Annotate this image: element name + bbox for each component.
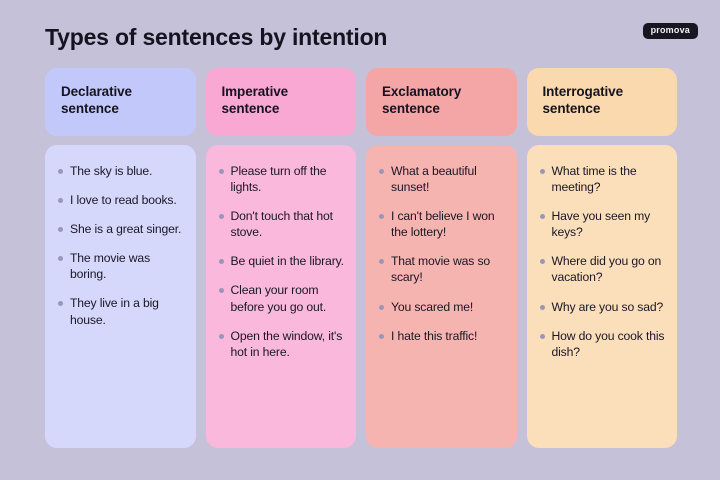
list-item-text: That movie was so scary!: [391, 253, 507, 285]
bullet-icon: [58, 301, 63, 306]
list-item-text: Have you seen my keys?: [552, 208, 668, 240]
bullet-icon: [219, 334, 224, 339]
list-item: Open the window, it's hot in here.: [219, 328, 347, 360]
bullet-icon: [540, 169, 545, 174]
page-title: Types of sentences by intention: [45, 24, 387, 51]
list-item-text: What time is the meeting?: [552, 163, 668, 195]
bullet-icon: [540, 305, 545, 310]
list-item: The sky is blue.: [58, 163, 186, 179]
bullet-icon: [379, 334, 384, 339]
list-item: How do you cook this dish?: [540, 328, 668, 360]
bullet-icon: [219, 288, 224, 293]
column-exclamatory: Exclamatory sentence What a beautiful su…: [366, 68, 517, 448]
list-item: They live in a big house.: [58, 295, 186, 327]
bullet-icon: [219, 214, 224, 219]
column-body-imperative: Please turn off the lights. Don't touch …: [206, 145, 357, 448]
list-item-text: Why are you so sad?: [552, 299, 664, 315]
column-header-declarative: Declarative sentence: [45, 68, 196, 136]
list-item-text: What a beautiful sunset!: [391, 163, 507, 195]
list-item-text: The sky is blue.: [70, 163, 152, 179]
list-item-text: How do you cook this dish?: [552, 328, 668, 360]
bullet-icon: [379, 305, 384, 310]
bullet-icon: [58, 198, 63, 203]
list-item-text: The movie was boring.: [70, 250, 186, 282]
list-item: What a beautiful sunset!: [379, 163, 507, 195]
list-item: Don't touch that hot stove.: [219, 208, 347, 240]
list-item: I can't believe I won the lottery!: [379, 208, 507, 240]
column-interrogative: Interrogative sentence What time is the …: [527, 68, 678, 448]
list-item-text: I hate this traffic!: [391, 328, 477, 344]
column-title: Exclamatory sentence: [382, 83, 503, 118]
list-item: What time is the meeting?: [540, 163, 668, 195]
list-item-text: I love to read books.: [70, 192, 177, 208]
bullet-icon: [540, 214, 545, 219]
list-item-text: Please turn off the lights.: [231, 163, 347, 195]
list-item: Clean your room before you go out.: [219, 282, 347, 314]
column-title: Imperative sentence: [222, 83, 343, 118]
bullet-icon: [540, 259, 545, 264]
bullet-icon: [58, 227, 63, 232]
list-item: Why are you so sad?: [540, 299, 668, 315]
list-item-text: Be quiet in the library.: [231, 253, 344, 269]
infographic-canvas: Types of sentences by intention promova …: [0, 0, 720, 480]
list-item: You scared me!: [379, 299, 507, 315]
list-item: That movie was so scary!: [379, 253, 507, 285]
bullet-icon: [58, 256, 63, 261]
bullet-icon: [379, 169, 384, 174]
promova-logo: promova: [643, 23, 698, 39]
list-item: Where did you go on vacation?: [540, 253, 668, 285]
bullet-icon: [540, 334, 545, 339]
list-item-text: Open the window, it's hot in here.: [231, 328, 347, 360]
list-item: Please turn off the lights.: [219, 163, 347, 195]
list-item-text: Clean your room before you go out.: [231, 282, 347, 314]
column-header-exclamatory: Exclamatory sentence: [366, 68, 517, 136]
column-header-interrogative: Interrogative sentence: [527, 68, 678, 136]
column-body-interrogative: What time is the meeting? Have you seen …: [527, 145, 678, 448]
list-item: The movie was boring.: [58, 250, 186, 282]
column-title: Interrogative sentence: [543, 83, 664, 118]
bullet-icon: [379, 214, 384, 219]
list-item: Have you seen my keys?: [540, 208, 668, 240]
bullet-icon: [219, 169, 224, 174]
list-item: Be quiet in the library.: [219, 253, 347, 269]
bullet-icon: [379, 259, 384, 264]
sentence-type-columns: Declarative sentence The sky is blue. I …: [45, 68, 677, 448]
column-body-declarative: The sky is blue. I love to read books. S…: [45, 145, 196, 448]
list-item-text: I can't believe I won the lottery!: [391, 208, 507, 240]
column-title: Declarative sentence: [61, 83, 182, 118]
column-declarative: Declarative sentence The sky is blue. I …: [45, 68, 196, 448]
column-body-exclamatory: What a beautiful sunset! I can't believe…: [366, 145, 517, 448]
header-bar: Types of sentences by intention promova: [0, 0, 720, 62]
list-item: She is a great singer.: [58, 221, 186, 237]
list-item-text: She is a great singer.: [70, 221, 181, 237]
list-item: I hate this traffic!: [379, 328, 507, 344]
list-item-text: You scared me!: [391, 299, 473, 315]
bullet-icon: [58, 169, 63, 174]
column-header-imperative: Imperative sentence: [206, 68, 357, 136]
list-item-text: They live in a big house.: [70, 295, 186, 327]
bullet-icon: [219, 259, 224, 264]
list-item-text: Where did you go on vacation?: [552, 253, 668, 285]
column-imperative: Imperative sentence Please turn off the …: [206, 68, 357, 448]
list-item-text: Don't touch that hot stove.: [231, 208, 347, 240]
list-item: I love to read books.: [58, 192, 186, 208]
